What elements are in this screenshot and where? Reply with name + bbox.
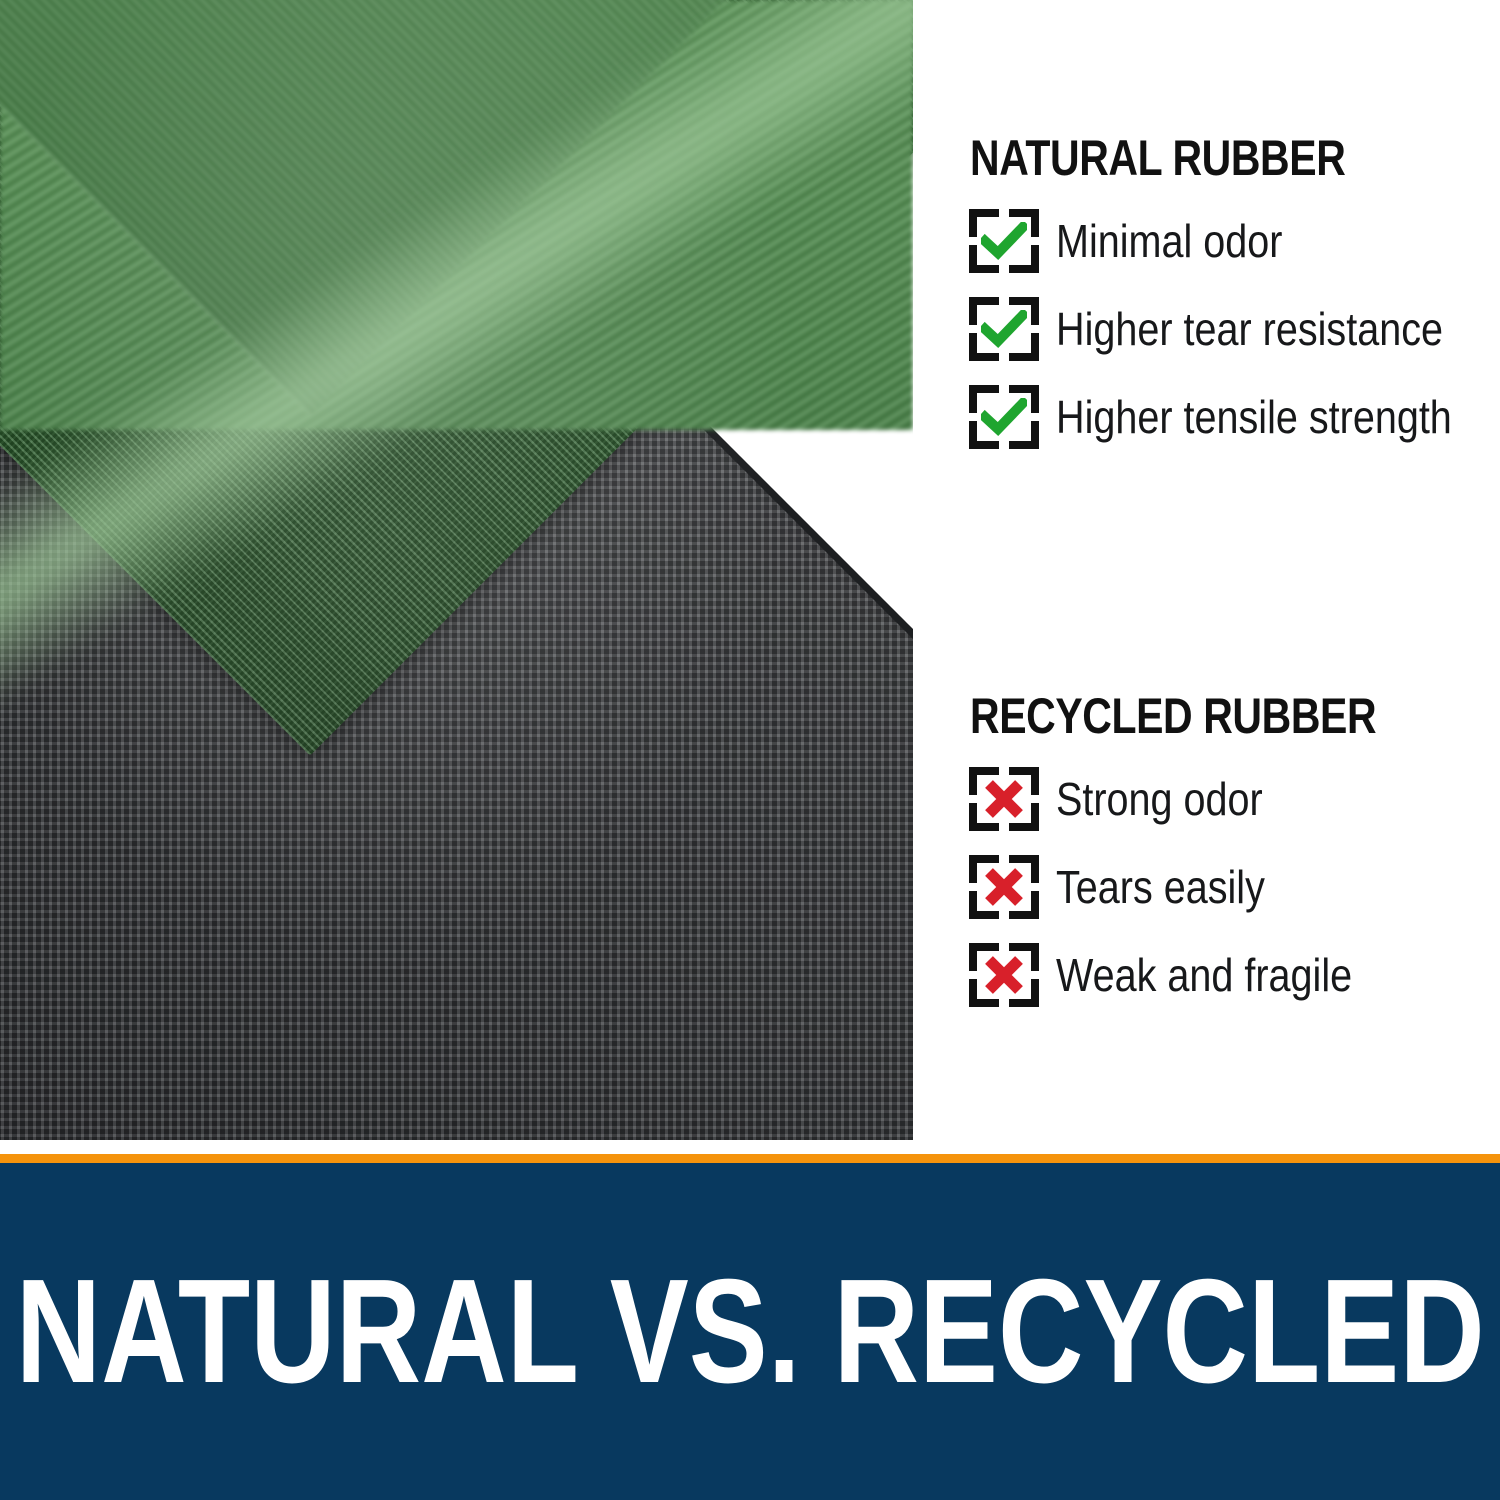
list-item: Higher tear resistance (950, 285, 1500, 373)
cross-icon (966, 940, 1042, 1010)
feature-label: Weak and fragile (1056, 952, 1352, 998)
top-content-area: NATURAL RUBBER Minimal odor (0, 0, 1500, 1154)
feature-label: Strong odor (1056, 776, 1263, 822)
natural-rubber-heading: NATURAL RUBBER (970, 132, 1405, 185)
infographic-root: NATURAL RUBBER Minimal odor (0, 0, 1500, 1500)
section-natural-rubber: NATURAL RUBBER Minimal odor (950, 132, 1500, 461)
feature-label: Higher tensile strength (1056, 394, 1452, 440)
recycled-rubber-heading: RECYCLED RUBBER (970, 690, 1405, 743)
check-icon (966, 294, 1042, 364)
orange-divider (0, 1154, 1500, 1163)
natural-rubber-feature-list: Minimal odor Higher tear resistance (950, 197, 1500, 461)
cross-icon (966, 852, 1042, 922)
check-icon (966, 382, 1042, 452)
recycled-rubber-feature-list: Strong odor Tears easily (950, 755, 1500, 1019)
list-item: Strong odor (950, 755, 1500, 843)
feature-label: Tears easily (1056, 864, 1265, 910)
banner-title: NATURAL VS. RECYCLED (15, 1258, 1484, 1406)
list-item: Minimal odor (950, 197, 1500, 285)
feature-label: Minimal odor (1056, 218, 1282, 264)
check-icon (966, 206, 1042, 276)
list-item: Tears easily (950, 843, 1500, 931)
list-item: Weak and fragile (950, 931, 1500, 1019)
comparison-column: NATURAL RUBBER Minimal odor (950, 0, 1500, 1154)
section-recycled-rubber: RECYCLED RUBBER Strong odor (950, 690, 1500, 1019)
list-item: Higher tensile strength (950, 373, 1500, 461)
bottom-banner: NATURAL VS. RECYCLED (0, 1163, 1500, 1500)
feature-label: Higher tear resistance (1056, 306, 1443, 352)
product-photo (0, 0, 913, 1140)
cross-icon (966, 764, 1042, 834)
